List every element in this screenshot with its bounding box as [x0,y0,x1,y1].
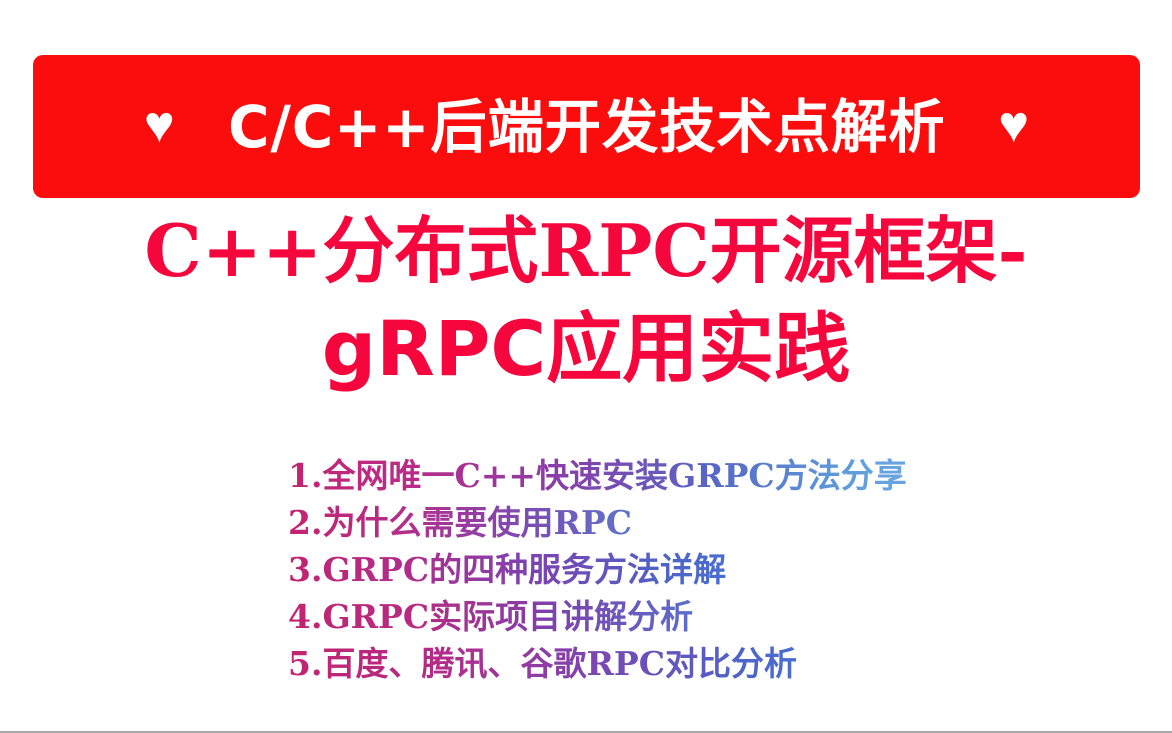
topic-list: 1.全网唯一C++快速安装GRPC方法分享 2.为什么需要使用RPC 3.GRP… [288,452,1008,687]
list-item: 4.GRPC实际项目讲解分析 [288,593,693,640]
heart-icon-right: ♥ [998,99,1029,151]
list-item: 3.GRPC的四种服务方法详解 [288,546,726,593]
list-item: 2.为什么需要使用RPC [288,499,632,546]
list-item: 5.百度、腾讯、谷歌RPC对比分析 [288,640,797,687]
page-title: C++分布式RPC开源框架- gRPC应用实践 [0,214,1172,386]
heart-icon-left: ♥ [144,99,175,151]
slide-canvas: ♥ C/C++后端开发技术点解析 ♥ C++分布式RPC开源框架- gRPC应用… [0,0,1172,733]
header-banner: ♥ C/C++后端开发技术点解析 ♥ [33,55,1140,198]
banner-title: C/C++后端开发技术点解析 [228,98,945,156]
page-title-line-1: C++分布式RPC开源框架- [0,214,1172,288]
list-item: 1.全网唯一C++快速安装GRPC方法分享 [288,452,907,499]
page-title-line-2: gRPC应用实践 [0,312,1172,386]
